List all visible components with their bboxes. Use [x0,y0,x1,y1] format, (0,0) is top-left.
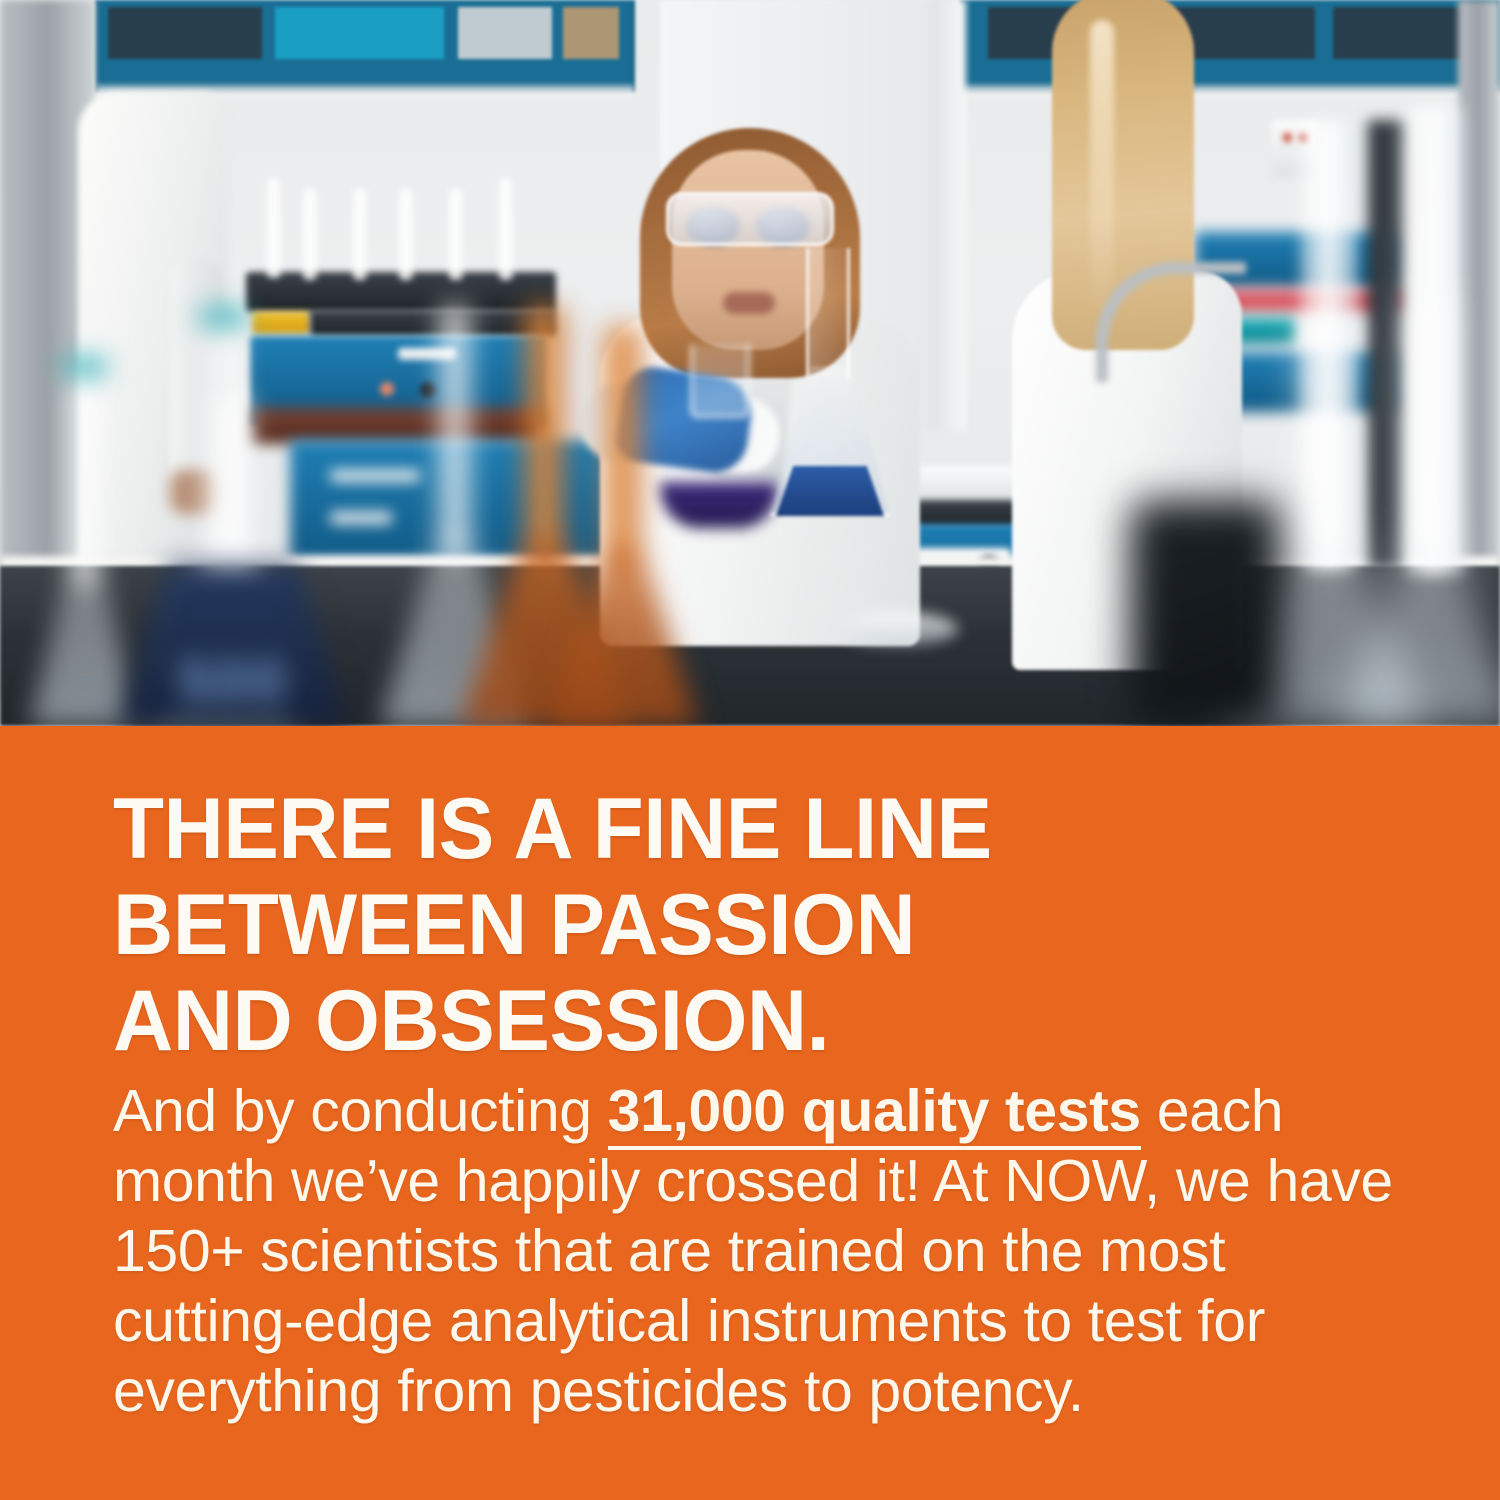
marketing-banner: 500 THERE IS A FINE LINE BET [0,0,1500,1500]
headline-line-3: AND OBSESSION. [113,973,1355,1069]
headline-line-2: BETWEEN PASSION [113,877,1355,973]
cabinet-glass-left [105,4,265,62]
foreground-amber-flask-2 [548,326,698,726]
lab-photo: 500 [0,0,1500,726]
safety-goggles [666,192,834,246]
flask-neck [1301,326,1345,556]
test-tube-2 [302,188,318,280]
test-tube-1 [266,178,282,278]
foreground-flask-right-2 [1340,296,1500,726]
erlenmeyer-flask [770,248,890,516]
right-scientist-hair-sheen [1090,20,1114,320]
highlight-quality-tests: 31,000 quality tests [608,1078,1141,1150]
flask-neck [70,356,100,586]
glass-beaker [690,344,750,418]
flask-teal-cap [200,308,246,326]
cabinet-glass-left-3 [455,4,555,62]
cabinet-divider-right [960,86,1500,96]
flask-neck [1409,296,1451,556]
flask-bulb [1340,536,1500,726]
headline: THERE IS A FINE LINE BETWEEN PASSION AND… [113,781,1355,1069]
flask-neck [603,326,643,566]
flask-volume-label: 500 [118,647,348,718]
orange-message-panel: THERE IS A FINE LINE BETWEEN PASSION AND… [0,726,1500,1500]
test-tube-6 [498,178,514,280]
flask-bulb [548,546,698,726]
flask-neck [806,248,850,378]
test-tube-4 [398,188,414,280]
headline-line-1: THERE IS A FINE LINE [113,781,1355,877]
test-tube-3 [352,188,368,280]
foreground-dark-object [1130,500,1280,726]
test-tube-5 [448,188,464,280]
cabinet-glass-left-2 [272,4,447,62]
flask-teal-cap [64,358,106,376]
petri-dish [840,612,958,646]
center-scientist-mouth [723,292,775,314]
cabinet-panel-tan [560,4,622,62]
flask-blue-liquid [776,466,884,516]
foreground-flask-500: 500 [118,396,348,726]
flask-blue-contents: 500 [118,566,348,726]
wall-column-center-edge [930,0,966,430]
body-paragraph: And by conducting 31,000 quality tests e… [113,1076,1403,1426]
outlet-indicator [1283,133,1292,142]
body-text-part-1: And by conducting [113,1078,608,1144]
